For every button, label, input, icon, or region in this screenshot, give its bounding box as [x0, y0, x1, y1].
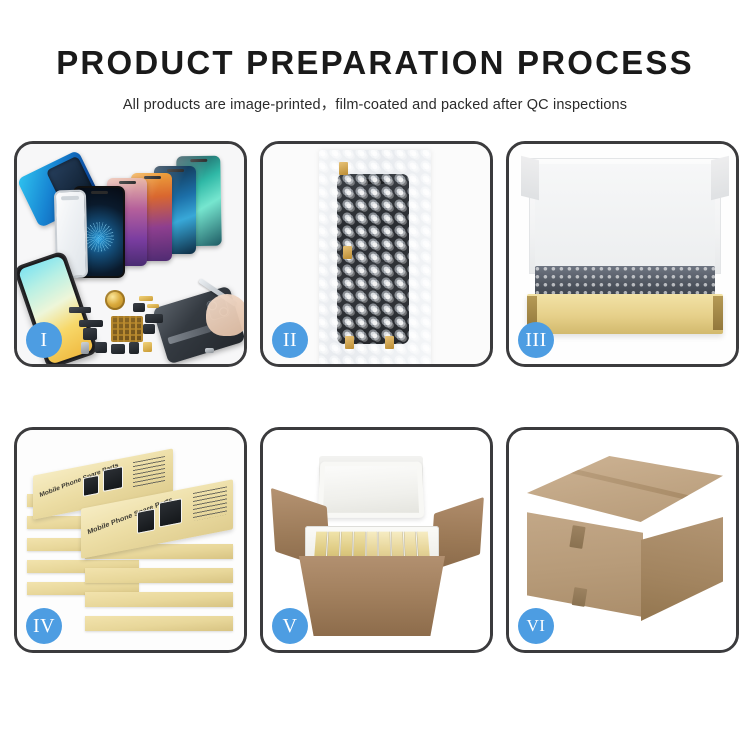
step-badge-1: I [26, 322, 62, 358]
earpiece-part-icon [111, 344, 125, 354]
step-badge-4: IV [26, 608, 62, 644]
process-step-panel-3: III [506, 141, 739, 367]
step-badge-3: III [518, 322, 554, 358]
kraft-box-base-icon [527, 294, 723, 334]
small-screw-part-icon [205, 348, 214, 353]
step-badge-2: II [272, 322, 308, 358]
sealed-shipping-carton-icon [527, 456, 723, 626]
hand-icon [206, 294, 244, 336]
gold-pad-part-icon [143, 342, 152, 352]
header: PRODUCT PREPARATION PROCESS All products… [0, 0, 750, 114]
gold-connector-part-icon [139, 296, 153, 301]
flex-cable-part-icon [133, 303, 145, 312]
speaker-part-icon [143, 324, 155, 334]
step-badge-5: V [272, 608, 308, 644]
vibration-motor-part-icon [105, 290, 125, 310]
screw-set-part-icon [111, 316, 143, 342]
box-lid-open-icon [529, 158, 721, 274]
camera-module-part-icon [83, 328, 97, 340]
antenna-part-icon [145, 314, 163, 323]
step-badge-6: VI [518, 608, 554, 644]
gold-tab-bottom-left-icon [345, 336, 354, 349]
process-step-grid: I II [14, 141, 740, 679]
retail-box-stack-icon: Mobile Phone Spare Parts Mobile Phone Sp… [27, 448, 237, 643]
carton-body-icon [299, 556, 445, 636]
gold-strip-part-icon [147, 304, 159, 308]
flex-ribbon-part-icon [79, 320, 103, 327]
process-step-panel-6: VI [506, 427, 739, 653]
page-title: PRODUCT PREPARATION PROCESS [0, 44, 750, 82]
chip-part-icon [69, 307, 91, 313]
process-step-panel-5: V [260, 427, 493, 653]
button-part-icon [129, 342, 139, 354]
carton-tape-lower-icon [572, 587, 588, 607]
page-subtitle: All products are image-printed，film-coat… [0, 93, 750, 114]
sim-tray-part-icon [81, 342, 89, 354]
gold-tab-bottom-right-icon [385, 336, 394, 349]
process-step-panel-2: II [260, 141, 493, 367]
foam-lid-icon [318, 462, 425, 518]
gold-tab-top-icon [339, 162, 348, 175]
process-step-panel-1: I [14, 141, 247, 367]
vibrator-part-icon [95, 342, 107, 353]
product-preparation-infographic: PRODUCT PREPARATION PROCESS All products… [0, 0, 750, 750]
gold-tab-mid-icon [343, 246, 352, 259]
process-step-panel-4: Mobile Phone Spare Parts Mobile Phone Sp… [14, 427, 247, 653]
bubble-wrap-bag-icon [319, 150, 431, 364]
